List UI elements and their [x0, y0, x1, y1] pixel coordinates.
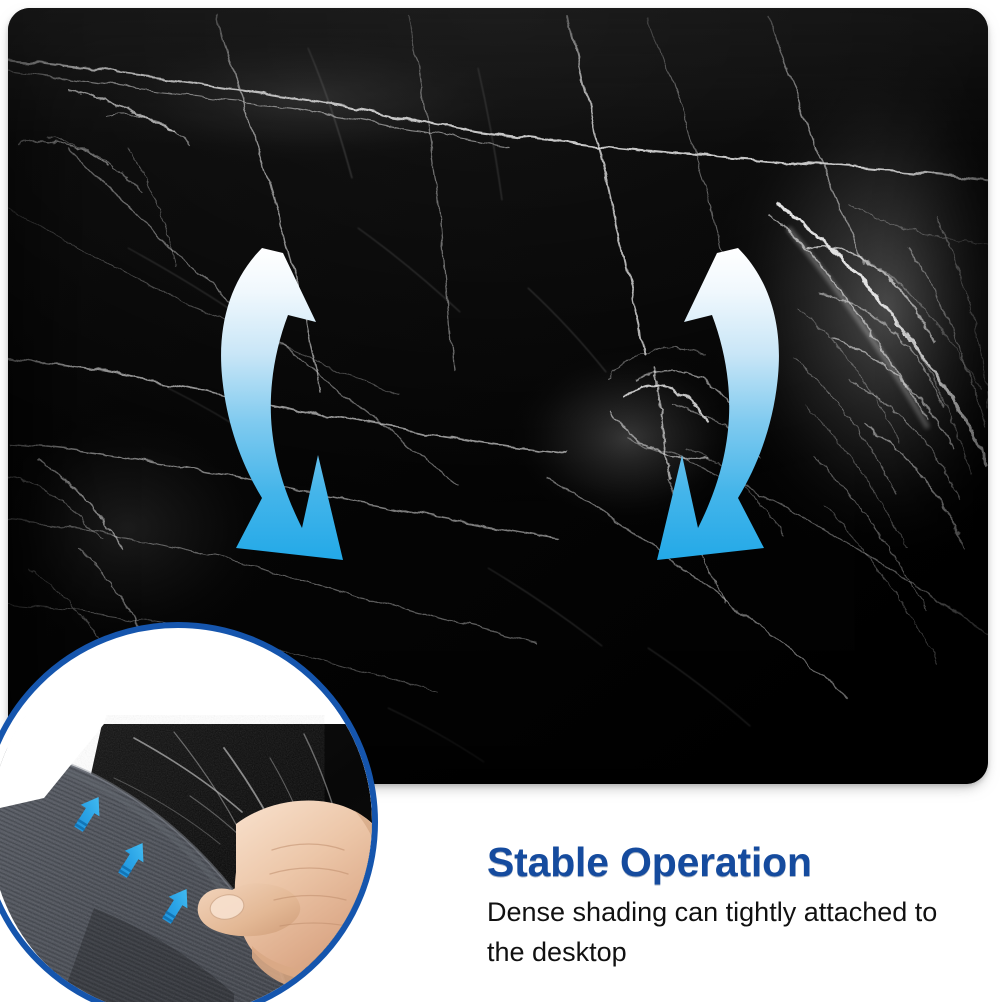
product-image-canvas: Stable Operation Dense shading can tight…	[0, 0, 1000, 1002]
caption-body: Dense shading can tightly attached to th…	[487, 892, 957, 972]
caption-heading: Stable Operation	[487, 838, 957, 886]
inset-illustration	[0, 628, 372, 1002]
caption-block: Stable Operation Dense shading can tight…	[487, 838, 957, 972]
